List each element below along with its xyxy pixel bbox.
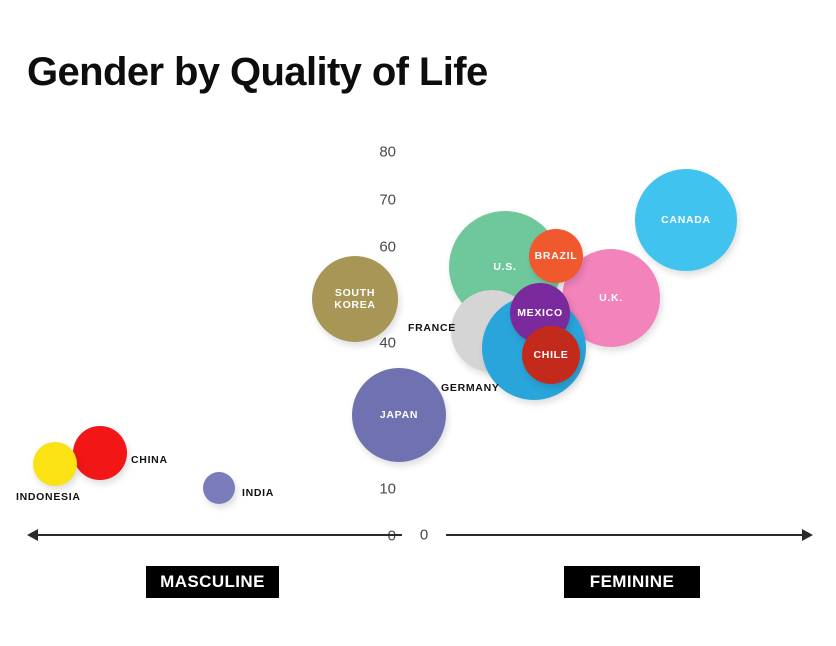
bubble-canada[interactable]: CANADA xyxy=(635,169,737,271)
axis-endbox-masculine: MASCULINE xyxy=(146,566,279,598)
bubble-china[interactable] xyxy=(73,426,127,480)
bubble-label-us: U.S. xyxy=(493,261,516,273)
bubble-label-china: CHINA xyxy=(131,455,168,467)
bubble-japan[interactable]: JAPAN xyxy=(352,368,446,462)
bubble-label-france: FRANCE xyxy=(408,323,456,335)
bubble-label-brazil: BRAZIL xyxy=(535,250,578,262)
bubble-indonesia[interactable] xyxy=(33,442,77,486)
chart-canvas: Gender by Quality of Life 8070605040100 … xyxy=(0,0,836,646)
bubble-plot: SOUTH KOREACANADAU.S.U.K.JAPANBRAZILMEXI… xyxy=(0,0,836,646)
axis-endbox-feminine: FEMININE xyxy=(564,566,700,598)
bubble-chile[interactable]: CHILE xyxy=(522,326,580,384)
axis-arrow-left-icon xyxy=(27,529,38,541)
bubble-label-mexico: MEXICO xyxy=(517,307,563,319)
bubble-india[interactable] xyxy=(203,472,235,504)
bubble-label-canada: CANADA xyxy=(661,214,711,226)
axis-arrow-right-icon xyxy=(802,529,813,541)
bubble-label-chile: CHILE xyxy=(534,349,569,361)
bubble-label-uk: U.K. xyxy=(599,292,623,304)
bubble-label-japan: JAPAN xyxy=(380,409,418,421)
bubble-label-south-korea: SOUTH KOREA xyxy=(334,287,375,311)
bubble-label-indonesia: INDONESIA xyxy=(16,492,81,504)
bubble-brazil[interactable]: BRAZIL xyxy=(529,229,583,283)
bubble-label-germany: GERMANY xyxy=(441,383,500,395)
bubble-label-india: INDIA xyxy=(242,488,274,500)
gender-axis-left-line xyxy=(32,534,402,536)
axis-zero-label: 0 xyxy=(413,527,435,544)
gender-axis-right-line xyxy=(446,534,808,536)
bubble-south-korea[interactable]: SOUTH KOREA xyxy=(312,256,398,342)
